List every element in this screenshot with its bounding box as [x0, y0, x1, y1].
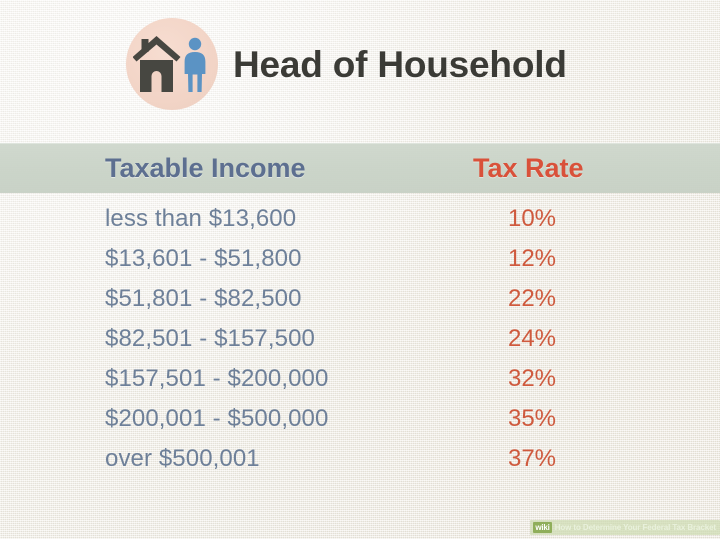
header-area: Head of Household — [0, 0, 720, 143]
table-row: $13,601 - $51,800 12% — [0, 239, 720, 279]
cell-taxable-income: $200,001 - $500,000 — [105, 399, 328, 439]
wikihow-watermark-text: How to Determine Your Federal Tax Bracke… — [555, 523, 716, 532]
header-row: Head of Household — [126, 18, 567, 110]
wikihow-watermark: wiki How to Determine Your Federal Tax B… — [530, 520, 720, 535]
table-row: less than $13,600 10% — [0, 199, 720, 239]
column-header-band: Taxable Income Tax Rate — [0, 143, 720, 193]
cell-taxable-income: $13,601 - $51,800 — [105, 239, 302, 279]
column-header-band-inner: Taxable Income Tax Rate — [0, 143, 720, 193]
table-row: $51,801 - $82,500 22% — [0, 279, 720, 319]
table-row: $82,501 - $157,500 24% — [0, 319, 720, 359]
cell-taxable-income: over $500,001 — [105, 439, 260, 479]
column-header-taxable-income: Taxable Income — [105, 152, 306, 184]
table-row: over $500,001 37% — [0, 439, 720, 479]
cell-taxable-income: $51,801 - $82,500 — [105, 279, 302, 319]
column-header-tax-rate: Tax Rate — [473, 152, 584, 184]
person-head-icon — [189, 38, 201, 50]
tax-bracket-table: less than $13,600 10% $13,601 - $51,800 … — [0, 199, 720, 479]
cell-tax-rate: 22% — [473, 279, 591, 319]
cell-taxable-income: $82,501 - $157,500 — [105, 319, 315, 359]
table-row: $200,001 - $500,000 35% — [0, 399, 720, 439]
wikihow-logo: wiki — [533, 522, 551, 533]
slide-canvas: Head of Household Taxable Income Tax Rat… — [0, 0, 720, 539]
door-icon — [152, 71, 162, 92]
cell-taxable-income: less than $13,600 — [105, 199, 296, 239]
cell-taxable-income: $157,501 - $200,000 — [105, 359, 328, 399]
roof-icon — [133, 36, 181, 62]
page-title: Head of Household — [233, 46, 567, 83]
cell-tax-rate: 32% — [473, 359, 591, 399]
cell-tax-rate: 24% — [473, 319, 591, 359]
household-icon-art — [133, 34, 211, 96]
cell-tax-rate: 37% — [473, 439, 591, 479]
cell-tax-rate: 10% — [473, 199, 591, 239]
cell-tax-rate: 12% — [473, 239, 591, 279]
person-icon — [185, 52, 206, 92]
cell-tax-rate: 35% — [473, 399, 591, 439]
table-row: $157,501 - $200,000 32% — [0, 359, 720, 399]
household-icon-badge — [126, 18, 218, 110]
